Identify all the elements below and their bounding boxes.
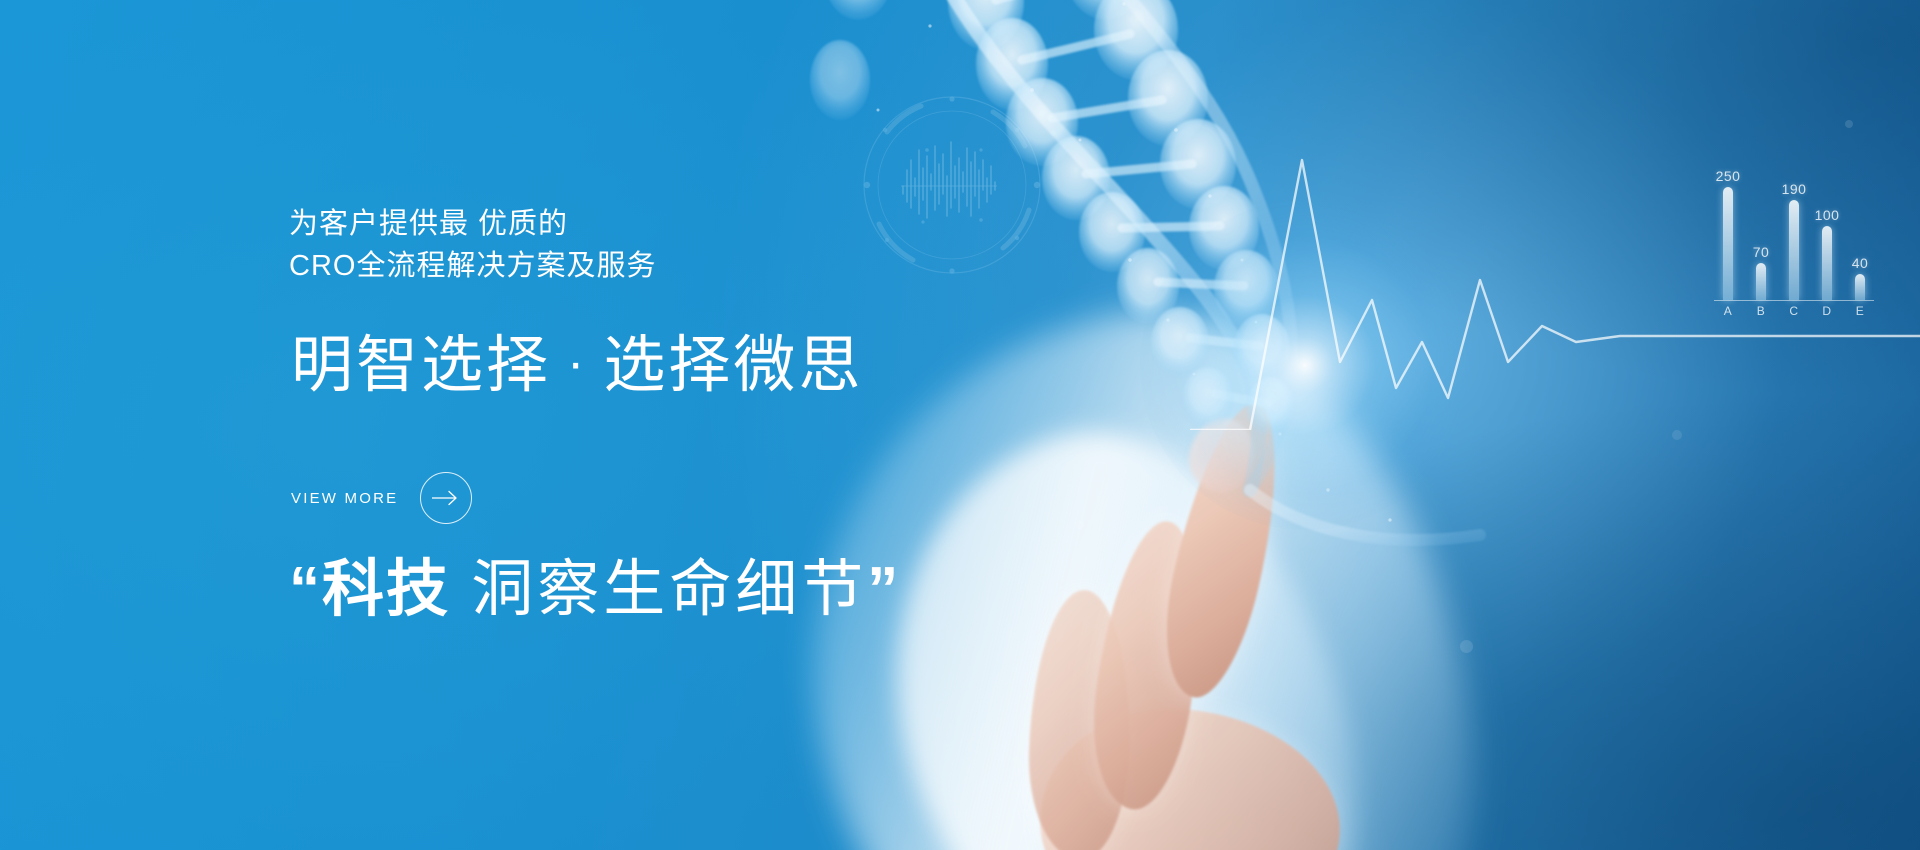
headline-left: 明智选择	[291, 331, 551, 400]
chart-category: A	[1714, 304, 1742, 318]
chart-axis-line	[1714, 300, 1874, 301]
chart-column: 70	[1747, 168, 1775, 300]
quote-open-mark: “	[289, 555, 322, 624]
chart-column: 250	[1714, 168, 1742, 300]
view-more-label: VIEW MORE	[291, 490, 398, 507]
chart-plot-area: 250 70 190 100 40	[1714, 168, 1874, 300]
chart-bar	[1789, 200, 1799, 300]
bar-value-label: 250	[1716, 168, 1741, 184]
chart-category-labels: A B C D E	[1714, 304, 1874, 318]
arrow-right-icon[interactable]	[420, 472, 472, 524]
chart-column: 190	[1780, 168, 1808, 300]
hero-content: 为客户提供最 优质的 CRO全流程解决方案及服务 明智选择·选择微思 VIEW …	[289, 0, 1109, 850]
chart-category: B	[1747, 304, 1775, 318]
chart-bar	[1822, 226, 1832, 300]
bar-value-label: 190	[1782, 181, 1807, 197]
chart-category: D	[1813, 304, 1841, 318]
headline-right: 选择微思	[603, 331, 863, 400]
headline-separator: ·	[567, 334, 587, 392]
chart-column: 40	[1846, 168, 1874, 300]
chart-column: 100	[1813, 168, 1841, 300]
quote-close-mark: ”	[867, 555, 900, 624]
mini-bar-chart: 250 70 190 100 40 A B C	[1700, 150, 1890, 330]
quote-body: 洞察生命细节	[450, 555, 867, 624]
chart-bar	[1855, 274, 1865, 300]
chart-bar	[1756, 263, 1766, 300]
subtitle-line-2: CRO全流程解决方案及服务	[289, 245, 656, 287]
hero-quote: “科技 洞察生命细节”	[289, 556, 900, 624]
page-title: 明智选择·选择微思	[291, 335, 863, 397]
quote-emphasis: 科技	[322, 555, 450, 624]
hero-subtitle: 为客户提供最 优质的 CRO全流程解决方案及服务	[289, 203, 656, 287]
chart-category: C	[1780, 304, 1808, 318]
chart-category: E	[1846, 304, 1874, 318]
chart-bar	[1723, 187, 1733, 300]
bar-value-label: 100	[1815, 207, 1840, 223]
subtitle-line-1: 为客户提供最 优质的	[289, 203, 656, 245]
hero-banner: 250 70 190 100 40 A B C	[0, 0, 1920, 850]
bar-value-label: 70	[1753, 244, 1770, 260]
view-more-button[interactable]: VIEW MORE	[291, 470, 472, 526]
bar-value-label: 40	[1852, 255, 1869, 271]
